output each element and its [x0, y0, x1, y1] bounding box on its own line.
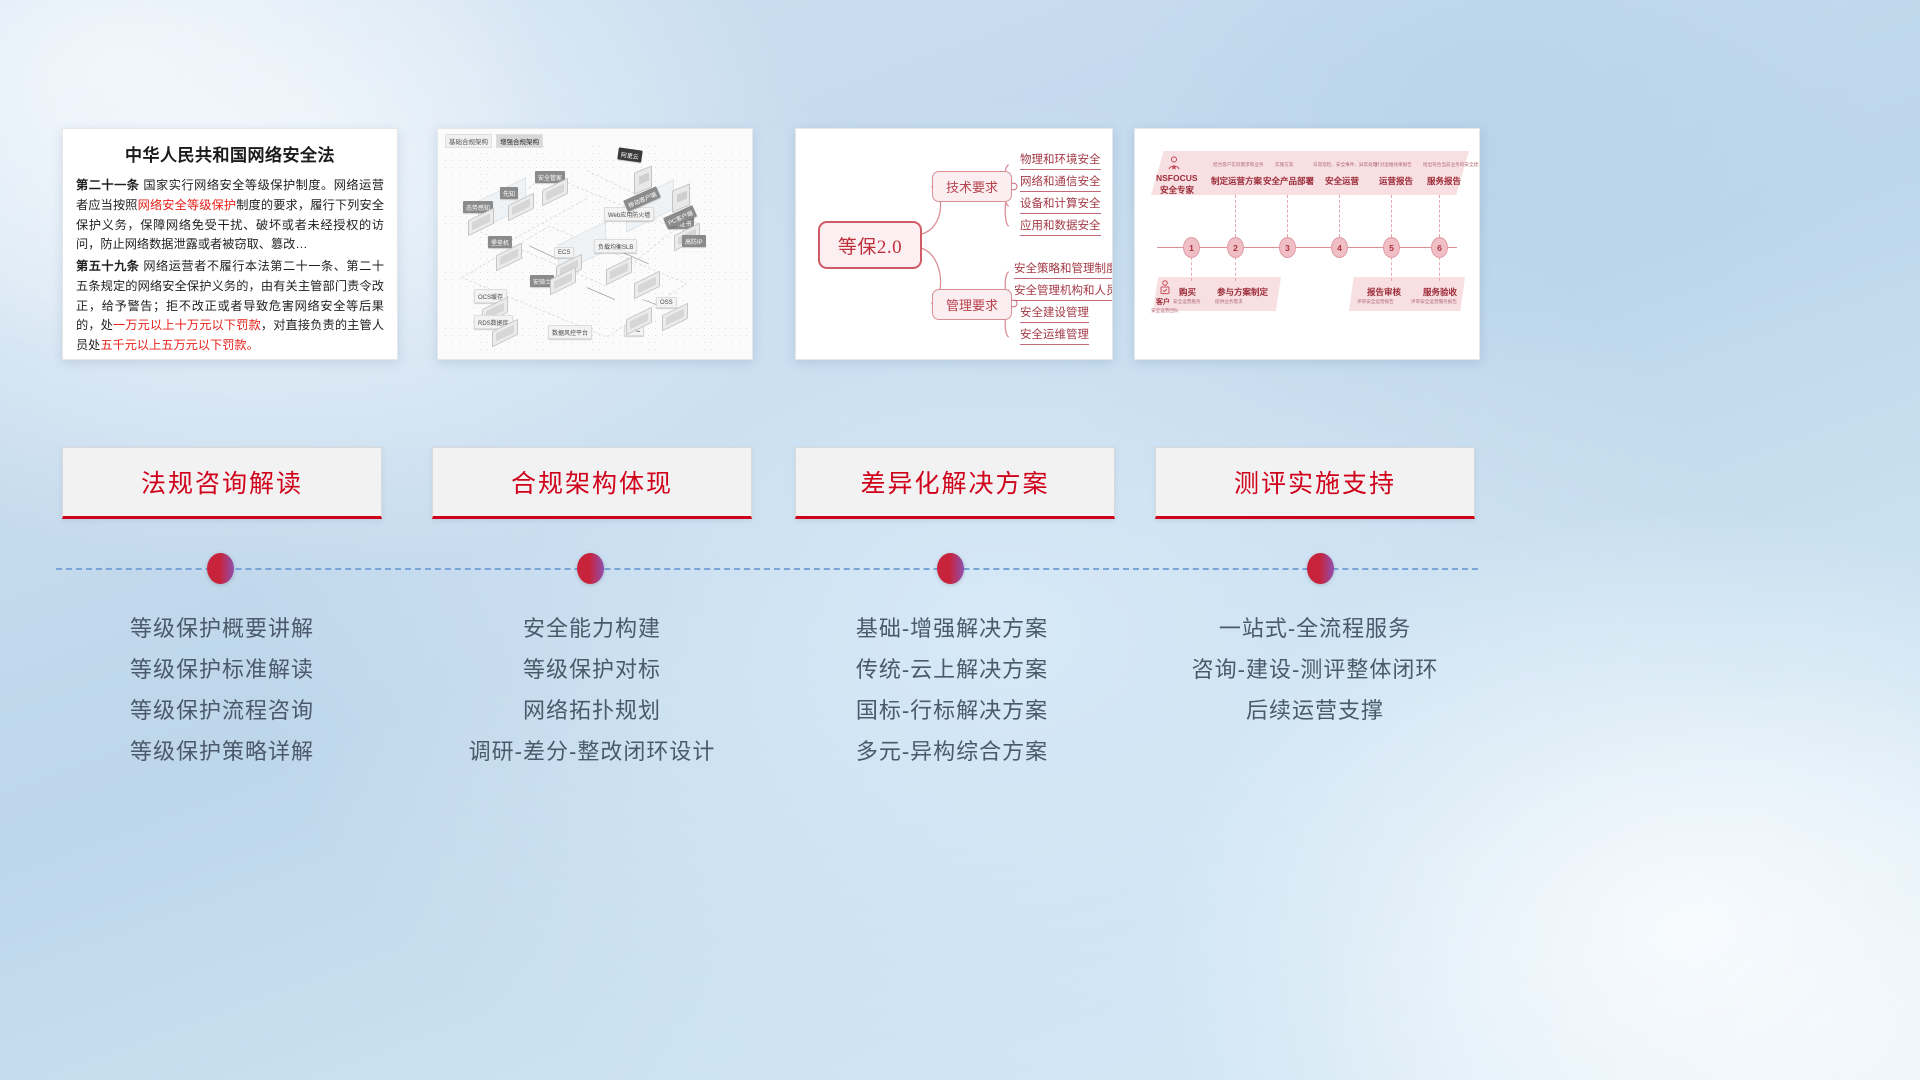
timeline-drop	[1391, 195, 1392, 237]
law-article-59: 第五十九条 网络运营者不履行本法第二十一条、第二十五条规定的网络安全保护义务的，…	[76, 257, 384, 356]
card-cybersecurity-law[interactable]: 中华人民共和国网络安全法 第二十一条 国家实行网络安全等级保护制度。网络运营者应…	[62, 128, 398, 360]
bottom-step-4-main: 服务验收	[1423, 286, 1457, 298]
timeline-top-band	[1151, 151, 1469, 195]
node-label-ecs: ECS	[554, 247, 574, 258]
timeline-node-1[interactable]: 1	[1183, 237, 1200, 258]
article-59-highlight-1: 一万元以上十万元以下罚款	[113, 318, 261, 332]
bottom-step-1-main: 购买	[1179, 286, 1196, 298]
customer-sub-label: 安全运营团队	[1151, 308, 1179, 314]
step-5-main: 运营报告	[1379, 175, 1413, 187]
node-label-xianzhi: 先知	[500, 187, 518, 199]
list-item: 咨询-建设-测评整体闭环	[1125, 649, 1505, 690]
pillar-regulation-consulting[interactable]: 法规咨询解读	[62, 447, 382, 519]
timeline-node-3[interactable]: 3	[1279, 237, 1296, 258]
pillar-2-label: 合规架构体现	[511, 464, 673, 500]
step-2-main: 制定运营方案	[1211, 175, 1262, 187]
card-dengbao-mindmap[interactable]: 等保2.0 技术要求 管理要求 物理和环境安全 网络和通信安全 设备和计算安全 …	[795, 128, 1113, 360]
main-timeline-axis	[56, 568, 1478, 570]
timeline-node-2[interactable]: 2	[1227, 237, 1244, 258]
customer-person-icon	[1157, 279, 1173, 295]
timeline-drop	[1339, 195, 1340, 237]
timeline-dot-1[interactable]	[207, 553, 234, 584]
bottom-step-4-sub: 评审安全运营服务报告	[1411, 299, 1457, 305]
article-59-label: 第五十九条	[76, 259, 139, 273]
law-title: 中华人民共和国网络安全法	[63, 141, 397, 166]
article-21-highlight: 网络安全等级保护	[138, 198, 237, 212]
step-5-sub: 针对运维效果报告	[1375, 162, 1412, 168]
expert-person-icon	[1165, 155, 1183, 173]
architecture-diagram: 基础合规架构 增强合规架构	[438, 129, 752, 359]
pillar-compliance-architecture[interactable]: 合规架构体现	[432, 447, 752, 519]
card-nsfocus-timeline[interactable]: NSFOCUS 安全专家 客户 安全运营团队 1 2 3 4 5 6	[1134, 128, 1480, 360]
list-column-2: 安全能力构建 等级保护对标 网络拓扑规划 调研-差分-整改闭环设计	[402, 608, 782, 772]
list-item: 基础-增强解决方案	[762, 608, 1142, 649]
step-3-main: 安全产品部署	[1263, 175, 1314, 187]
pillar-4-label: 测评实施支持	[1234, 464, 1396, 500]
list-item: 传统-云上解决方案	[762, 649, 1142, 690]
list-item: 国标-行标解决方案	[762, 690, 1142, 731]
list-item: 等级保护流程咨询	[32, 690, 412, 731]
list-item: 一站式-全流程服务	[1125, 608, 1505, 649]
bottom-step-1-sub: 安全运营服务	[1173, 299, 1201, 305]
mindmap-branch-technical: 技术要求	[932, 171, 1012, 202]
node-label-bastion-host: 堡垒机	[488, 236, 512, 248]
list-column-1: 等级保护概要讲解 等级保护标准解读 等级保护流程咨询 等级保护策略详解	[32, 608, 412, 772]
article-21-label: 第二十一条	[76, 178, 139, 192]
node-label-oss: OSS	[656, 297, 677, 308]
timeline-node-4[interactable]: 4	[1331, 237, 1348, 258]
bottom-step-2-sub: 提供业务需求	[1215, 299, 1243, 305]
card-compliance-architecture[interactable]: 基础合规架构 增强合规架构	[437, 128, 753, 360]
timeline-drop	[1235, 257, 1236, 281]
mindmap-leaf-ops-mgmt: 安全运维管理	[1020, 326, 1089, 345]
law-article-21: 第二十一条 国家实行网络安全等级保护制度。网络运营者应当按照网络安全等级保护制度…	[76, 176, 384, 255]
node-label-anti-ddos-ip: 高防IP	[682, 235, 706, 247]
timeline-drop	[1235, 195, 1236, 237]
step-6-sub: 给出符合当前业务的安全建议	[1423, 162, 1480, 168]
timeline-dot-4[interactable]	[1307, 553, 1334, 584]
timeline-dot-2[interactable]	[577, 553, 604, 584]
list-item: 等级保护概要讲解	[32, 608, 412, 649]
step-6-main: 服务报告	[1427, 175, 1461, 187]
list-item: 等级保护对标	[402, 649, 782, 690]
list-item: 网络拓扑规划	[402, 690, 782, 731]
timeline-node-5[interactable]: 5	[1383, 237, 1400, 258]
customer-label: 客户	[1156, 297, 1170, 307]
bottom-step-3-main: 报告审核	[1367, 286, 1401, 298]
bottom-step-2-main: 参与方案制定	[1217, 286, 1268, 298]
node-label-risk-control: 数据风控平台	[548, 325, 592, 339]
mindmap: 等保2.0 技术要求 管理要求 物理和环境安全 网络和通信安全 设备和计算安全 …	[796, 129, 1112, 359]
mindmap-leaf-network-comm: 网络和通信安全	[1020, 173, 1101, 192]
step-2-sub: 结合客户实际需求和业务	[1213, 162, 1264, 168]
pillar-3-label: 差异化解决方案	[860, 464, 1049, 500]
step-4-sub: 日常巡检、安全事件、异常处理	[1313, 162, 1377, 168]
timeline-dot-3[interactable]	[937, 553, 964, 584]
mindmap-leaf-app-data: 应用和数据安全	[1020, 217, 1101, 236]
mindmap-leaf-policy-system: 安全策略和管理制度	[1014, 260, 1113, 279]
pillar-differentiated-solution[interactable]: 差异化解决方案	[795, 447, 1115, 519]
mindmap-leaf-device-compute: 设备和计算安全	[1020, 195, 1101, 214]
timeline-drop	[1287, 195, 1288, 237]
service-timeline: NSFOCUS 安全专家 客户 安全运营团队 1 2 3 4 5 6	[1135, 129, 1479, 359]
step-4-main: 安全运营	[1325, 175, 1359, 187]
list-item: 等级保护标准解读	[32, 649, 412, 690]
timeline-axis	[1157, 247, 1457, 248]
list-item: 安全能力构建	[402, 608, 782, 649]
expert-label-nsfocus: NSFOCUS	[1156, 173, 1198, 183]
list-item: 调研-差分-整改闭环设计	[402, 731, 782, 772]
timeline-drop	[1391, 257, 1392, 281]
node-label-slb: 负载均衡SLB	[594, 239, 637, 253]
mindmap-branch-management: 管理要求	[932, 289, 1012, 320]
list-item: 后续运营支撑	[1125, 690, 1505, 731]
list-item: 多元-异构综合方案	[762, 731, 1142, 772]
pillar-assessment-support[interactable]: 测评实施支持	[1155, 447, 1475, 519]
pillar-1-label: 法规咨询解读	[141, 464, 303, 500]
mindmap-leaf-org-personnel: 安全管理机构和人员	[1014, 282, 1113, 301]
timeline-node-6[interactable]: 6	[1431, 237, 1448, 258]
list-column-3: 基础-增强解决方案 传统-云上解决方案 国标-行标解决方案 多元-异构综合方案	[762, 608, 1142, 772]
mindmap-root: 等保2.0	[818, 221, 922, 269]
list-column-4: 一站式-全流程服务 咨询-建设-测评整体闭环 后续运营支撑	[1125, 608, 1505, 731]
list-item: 等级保护策略详解	[32, 731, 412, 772]
timeline-drop	[1191, 257, 1192, 281]
law-body: 第二十一条 国家实行网络安全等级保护制度。网络运营者应当按照网络安全等级保护制度…	[76, 176, 384, 356]
cards-row: 中华人民共和国网络安全法 第二十一条 国家实行网络安全等级保护制度。网络运营者应…	[0, 128, 1920, 360]
mindmap-leaf-construction-mgmt: 安全建设管理	[1020, 304, 1089, 323]
bottom-step-3-sub: 评审安全运营报告	[1357, 299, 1394, 305]
timeline-drop	[1439, 195, 1440, 237]
step-3-sub: 实施方案	[1275, 162, 1293, 168]
mindmap-leaf-physical-env: 物理和环境安全	[1020, 151, 1101, 170]
expert-label-security: 安全专家	[1160, 184, 1194, 196]
article-59-highlight-2: 五千元以上五万元以下罚款。	[100, 338, 258, 352]
timeline-drop	[1439, 257, 1440, 281]
